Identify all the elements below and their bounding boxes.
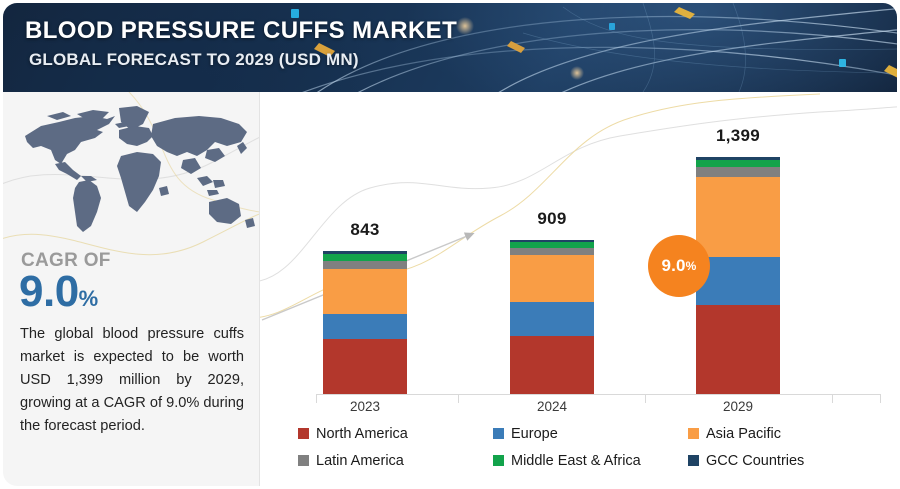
summary-description: The global blood pressure cuffs market i… xyxy=(20,323,244,438)
segment-north-america xyxy=(323,339,407,394)
legend-label: North America xyxy=(316,426,408,442)
cagr-value: 9.0% xyxy=(19,270,98,321)
legend-item-north-america[interactable]: North America xyxy=(298,420,493,447)
segment-asia-pacific xyxy=(323,269,407,314)
x-axis-label-2029: 2029 xyxy=(658,399,818,414)
legend-swatch-icon xyxy=(493,455,504,466)
header-banner: BLOOD PRESSURE CUFFS MARKET GLOBAL FOREC… xyxy=(3,3,897,92)
x-axis-line xyxy=(316,394,880,395)
stacked-bar-chart: 843202390920241,3992029 9.0% North Ameri… xyxy=(260,92,897,486)
cagr-badge-value: 9.0 xyxy=(661,256,685,276)
segment-middle-east-africa xyxy=(323,254,407,261)
cagr-number: 9.0 xyxy=(19,267,79,316)
legend-item-gcc-countries[interactable]: GCC Countries xyxy=(688,447,883,474)
x-axis-tick-3 xyxy=(832,394,833,403)
segment-latin-america xyxy=(696,167,780,177)
legend-label: GCC Countries xyxy=(706,453,804,469)
legend-swatch-icon xyxy=(298,455,309,466)
segment-latin-america xyxy=(323,261,407,269)
bar-2029 xyxy=(696,157,780,394)
legend-item-latin-america[interactable]: Latin America xyxy=(298,447,493,474)
segment-europe xyxy=(510,302,594,336)
page-subtitle: GLOBAL FORECAST TO 2029 (USD MN) xyxy=(29,50,359,70)
x-axis-label-2024: 2024 xyxy=(472,399,632,414)
left-summary-panel: CAGR OF 9.0% The global blood pressure c… xyxy=(3,92,259,486)
world-map-icon xyxy=(11,102,256,242)
legend-label: Latin America xyxy=(316,453,404,469)
chart-legend: North AmericaEuropeAsia PacificLatin Ame… xyxy=(298,420,888,474)
x-axis-label-2023: 2023 xyxy=(285,399,445,414)
bar-total-label-2023: 843 xyxy=(305,220,425,240)
bar-total-label-2024: 909 xyxy=(492,209,612,229)
bar-total-label-2029: 1,399 xyxy=(678,126,798,146)
legend-swatch-icon xyxy=(688,455,699,466)
legend-item-middle-east-africa[interactable]: Middle East & Africa xyxy=(493,447,688,474)
bar-2023 xyxy=(323,251,407,394)
legend-item-asia-pacific[interactable]: Asia Pacific xyxy=(688,420,883,447)
cagr-badge: 9.0% xyxy=(648,235,710,297)
cagr-percent-sign: % xyxy=(79,286,98,311)
segment-latin-america xyxy=(510,248,594,255)
legend-label: Europe xyxy=(511,426,558,442)
segment-north-america xyxy=(510,336,594,394)
segment-north-america xyxy=(696,305,780,394)
legend-item-europe[interactable]: Europe xyxy=(493,420,688,447)
legend-swatch-icon xyxy=(493,428,504,439)
x-axis-tick-1 xyxy=(458,394,459,403)
x-axis-tick-4 xyxy=(880,394,881,403)
legend-label: Asia Pacific xyxy=(706,426,781,442)
bar-2024 xyxy=(510,240,594,394)
segment-asia-pacific xyxy=(696,177,780,257)
x-axis-tick-0 xyxy=(316,394,317,403)
legend-swatch-icon xyxy=(298,428,309,439)
x-axis-tick-2 xyxy=(645,394,646,403)
segment-middle-east-africa xyxy=(696,160,780,167)
segment-asia-pacific xyxy=(510,255,594,302)
legend-swatch-icon xyxy=(688,428,699,439)
segment-europe xyxy=(323,314,407,339)
cagr-badge-unit: % xyxy=(686,259,697,273)
infographic-canvas: BLOOD PRESSURE CUFFS MARKET GLOBAL FOREC… xyxy=(0,0,900,489)
page-title: BLOOD PRESSURE CUFFS MARKET xyxy=(25,17,457,45)
legend-label: Middle East & Africa xyxy=(511,453,641,469)
